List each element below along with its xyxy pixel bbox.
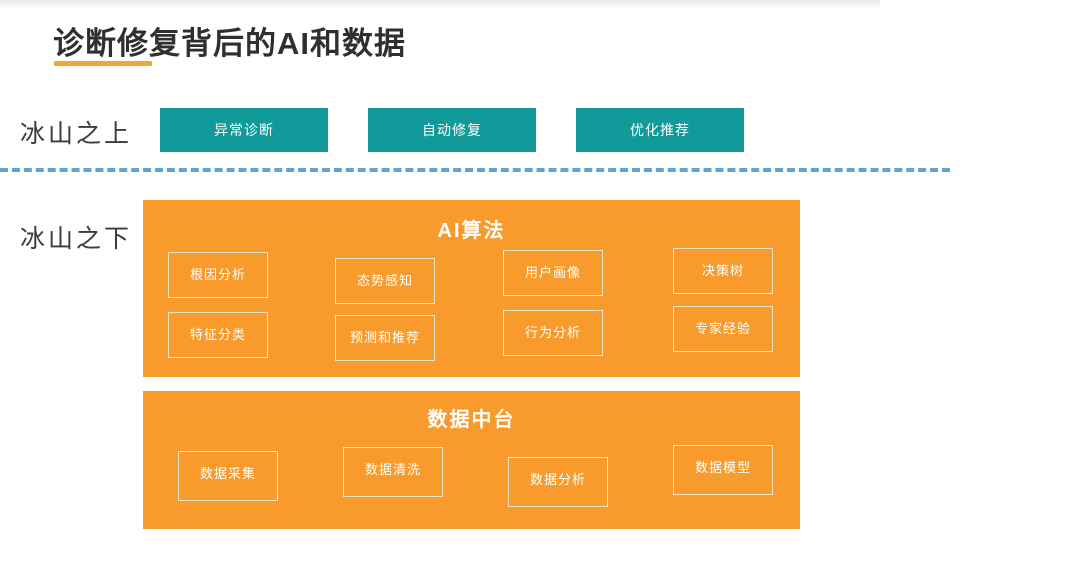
title-underline-accent (54, 61, 152, 66)
chip-feature-classification[interactable]: 特征分类 (168, 312, 268, 358)
page-title: 诊断修复背后的AI和数据 (53, 18, 406, 63)
chip-expert-experience[interactable]: 专家经验 (673, 306, 773, 352)
chip-data-collection[interactable]: 数据采集 (178, 451, 278, 501)
iceberg-waterline-divider (0, 168, 950, 172)
chip-situation-awareness[interactable]: 态势感知 (335, 258, 435, 304)
button-optimization-recommendation[interactable]: 优化推荐 (576, 108, 744, 152)
label-below-water: 冰山之下 (20, 219, 132, 255)
above-water-button-row: 异常诊断 自动修复 优化推荐 (160, 108, 760, 152)
chip-data-modeling[interactable]: 数据模型 (673, 445, 773, 495)
chip-prediction-and-recommendation[interactable]: 预测和推荐 (335, 315, 435, 361)
panel-ai-algorithms: AI算法 根因分析 态势感知 用户画像 决策树 特征分类 预测和推荐 行为分析 … (143, 200, 800, 377)
panel-data-title: 数据中台 (143, 403, 800, 432)
slide-canvas: 诊断修复背后的AI和数据 冰山之上 冰山之下 异常诊断 自动修复 优化推荐 AI… (0, 0, 1080, 581)
panel-ai-title: AI算法 (143, 214, 800, 243)
label-above-water: 冰山之上 (20, 114, 132, 150)
panel-data-platform: 数据中台 数据采集 数据清洗 数据分析 数据模型 (143, 391, 800, 529)
button-anomaly-diagnosis[interactable]: 异常诊断 (160, 108, 328, 152)
top-decoration-band (0, 0, 880, 9)
button-auto-repair[interactable]: 自动修复 (368, 108, 536, 152)
chip-user-profiling[interactable]: 用户画像 (503, 250, 603, 296)
chip-data-cleaning[interactable]: 数据清洗 (343, 447, 443, 497)
chip-behavior-analysis[interactable]: 行为分析 (503, 310, 603, 356)
chip-root-cause-analysis[interactable]: 根因分析 (168, 252, 268, 298)
chip-data-analysis[interactable]: 数据分析 (508, 457, 608, 507)
chip-decision-tree[interactable]: 决策树 (673, 248, 773, 294)
